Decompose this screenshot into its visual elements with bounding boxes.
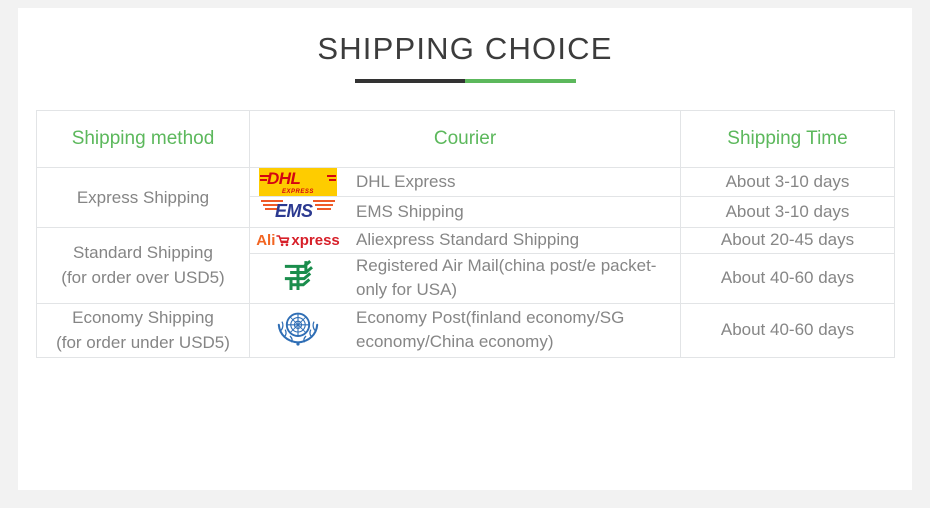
courier-name: EMS Shipping: [346, 200, 464, 225]
table-row: Economy Shipping (for order under USD5): [37, 303, 895, 357]
courier-name: Registered Air Mail(china post/e packet-…: [346, 254, 680, 303]
dhl-logo-subtext: EXPRESS: [282, 189, 314, 195]
shipping-method-label: Standard Shipping: [37, 240, 249, 266]
title-underline: [355, 79, 576, 83]
shipping-choice-card: SHIPPING CHOICE Shipping method Courier …: [18, 8, 912, 490]
column-header-courier: Courier: [250, 111, 681, 168]
page-title: SHIPPING CHOICE: [18, 32, 912, 66]
shipping-method-standard: Standard Shipping (for order over USD5): [37, 228, 250, 304]
logo-slot: DHL EXPRESS: [250, 168, 346, 196]
dhl-logo: DHL EXPRESS: [259, 168, 337, 196]
column-header-shipping-method: Shipping method: [37, 111, 250, 168]
shipping-method-express: Express Shipping: [37, 168, 250, 228]
courier-name: Aliexpress Standard Shipping: [346, 228, 579, 253]
shopping-cart-icon: [276, 234, 290, 247]
logo-slot: Ali xpress: [250, 232, 346, 249]
aliexpress-logo-prefix: Ali: [256, 232, 275, 249]
courier-name: DHL Express: [346, 170, 456, 195]
shipping-time: About 40-60 days: [681, 303, 895, 357]
title-underline-green: [465, 79, 576, 83]
table-row: Standard Shipping (for order over USD5) …: [37, 228, 895, 254]
shipping-time: About 3-10 days: [681, 197, 895, 228]
shipping-method-label: Express Shipping: [77, 188, 209, 207]
shipping-method-note: (for order under USD5): [37, 330, 249, 356]
table-row: Express Shipping DHL: [37, 168, 895, 197]
united-nations-logo: [274, 304, 322, 357]
aliexpress-logo-suffix: xpress: [291, 232, 339, 249]
shipping-time: About 40-60 days: [681, 253, 895, 303]
title-block: SHIPPING CHOICE: [18, 8, 912, 83]
title-underline-dark: [355, 79, 466, 83]
shipping-table: Shipping method Courier Shipping Time Ex…: [36, 110, 895, 358]
courier-name: Economy Post(finland economy/SG economy/…: [346, 306, 680, 355]
shipping-method-note: (for order over USD5): [37, 265, 249, 291]
shipping-time: About 20-45 days: [681, 228, 895, 254]
courier-cell-aliexpress: Ali xpress: [250, 228, 681, 254]
courier-cell-economy-post: Economy Post(finland economy/SG economy/…: [250, 303, 681, 357]
ems-logo: EMS: [261, 197, 335, 227]
logo-slot: EMS: [250, 197, 346, 227]
shipping-method-label: Economy Shipping: [37, 305, 249, 331]
logo-slot: [250, 255, 346, 302]
courier-cell-ems: EMS EMS Shipping: [250, 197, 681, 228]
logo-slot: [250, 304, 346, 357]
courier-cell-china-post: Registered Air Mail(china post/e packet-…: [250, 253, 681, 303]
aliexpress-logo: Ali xpress: [256, 232, 340, 249]
table-header-row: Shipping method Courier Shipping Time: [37, 111, 895, 168]
courier-cell-dhl: DHL EXPRESS DHL Express: [250, 168, 681, 197]
china-post-logo: [277, 255, 319, 302]
ems-logo-wordmark: EMS: [275, 201, 313, 222]
shipping-table-wrapper: Shipping method Courier Shipping Time Ex…: [36, 110, 894, 358]
dhl-logo-wordmark: DHL: [267, 169, 300, 189]
column-header-shipping-time: Shipping Time: [681, 111, 895, 168]
shipping-method-economy: Economy Shipping (for order under USD5): [37, 303, 250, 357]
shipping-time: About 3-10 days: [681, 168, 895, 197]
